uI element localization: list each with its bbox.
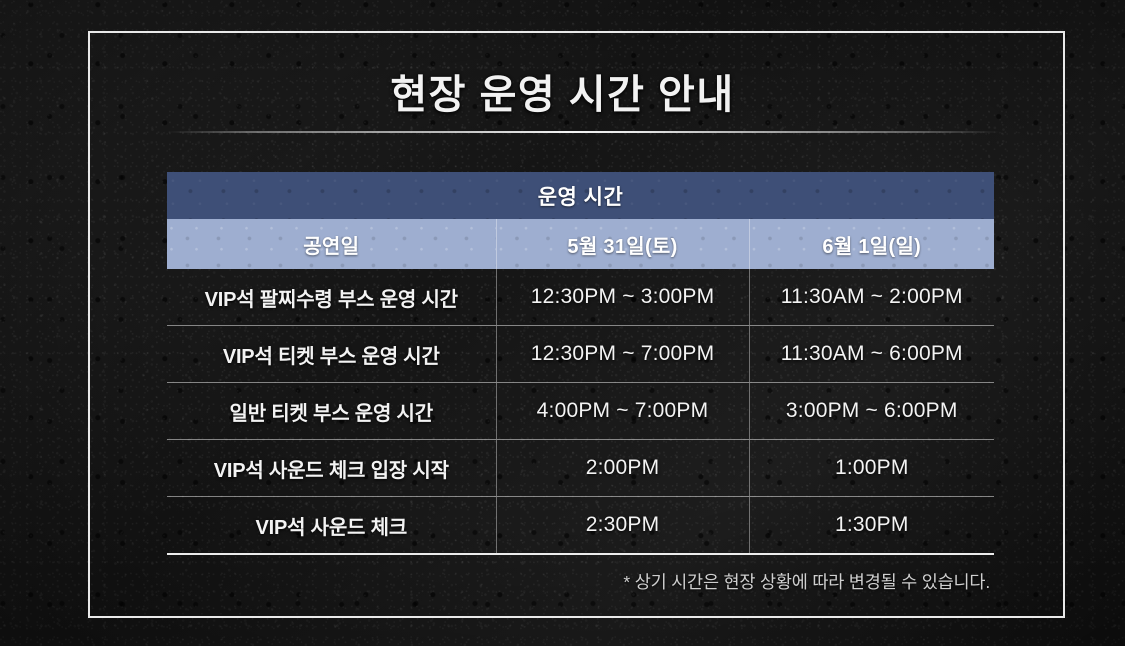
table-row: VIP석 사운드 체크 입장 시작 2:00PM 1:00PM	[167, 440, 994, 497]
table-body: VIP석 팔찌수령 부스 운영 시간 12:30PM ~ 3:00PM 11:3…	[167, 269, 994, 554]
row-day2-time: 1:30PM	[749, 497, 994, 555]
row-label: VIP석 사운드 체크 입장 시작	[167, 440, 496, 497]
row-label: 일반 티켓 부스 운영 시간	[167, 383, 496, 440]
page-title: 현장 운영 시간 안내	[0, 62, 1125, 120]
row-day1-time: 12:30PM ~ 7:00PM	[496, 326, 749, 383]
row-day1-time: 4:00PM ~ 7:00PM	[496, 383, 749, 440]
column-header-day2: 6월 1일(일)	[749, 219, 994, 269]
table-row: VIP석 사운드 체크 2:30PM 1:30PM	[167, 497, 994, 555]
title-divider-rule	[168, 131, 1000, 133]
table-row: 일반 티켓 부스 운영 시간 4:00PM ~ 7:00PM 3:00PM ~ …	[167, 383, 994, 440]
row-label: VIP석 사운드 체크	[167, 497, 496, 555]
row-day2-time: 11:30AM ~ 6:00PM	[749, 326, 994, 383]
row-day2-time: 1:00PM	[749, 440, 994, 497]
schedule-table-container: 운영 시간 공연일 5월 31일(토) 6월 1일(일) VIP석 팔찌수령 부…	[167, 172, 994, 594]
row-day1-time: 2:00PM	[496, 440, 749, 497]
column-header-performance-day: 공연일	[167, 219, 496, 269]
row-day1-time: 12:30PM ~ 3:00PM	[496, 269, 749, 326]
table-header-row: 공연일 5월 31일(토) 6월 1일(일)	[167, 219, 994, 269]
table-row: VIP석 팔찌수령 부스 운영 시간 12:30PM ~ 3:00PM 11:3…	[167, 269, 994, 326]
row-label: VIP석 티켓 부스 운영 시간	[167, 326, 496, 383]
schedule-footnote: * 상기 시간은 현장 상황에 따라 변경될 수 있습니다.	[167, 569, 994, 594]
row-label: VIP석 팔찌수령 부스 운영 시간	[167, 269, 496, 326]
row-day1-time: 2:30PM	[496, 497, 749, 555]
column-header-day1: 5월 31일(토)	[496, 219, 749, 269]
table-banner-row: 운영 시간	[167, 172, 994, 219]
table-row: VIP석 티켓 부스 운영 시간 12:30PM ~ 7:00PM 11:30A…	[167, 326, 994, 383]
row-day2-time: 11:30AM ~ 2:00PM	[749, 269, 994, 326]
operating-hours-table: 운영 시간 공연일 5월 31일(토) 6월 1일(일) VIP석 팔찌수령 부…	[167, 172, 994, 555]
poster-canvas: 현장 운영 시간 안내 운영 시간 공연일 5월 31일(토) 6월 1일(일)…	[0, 0, 1125, 646]
table-banner-title: 운영 시간	[167, 172, 994, 219]
row-day2-time: 3:00PM ~ 6:00PM	[749, 383, 994, 440]
